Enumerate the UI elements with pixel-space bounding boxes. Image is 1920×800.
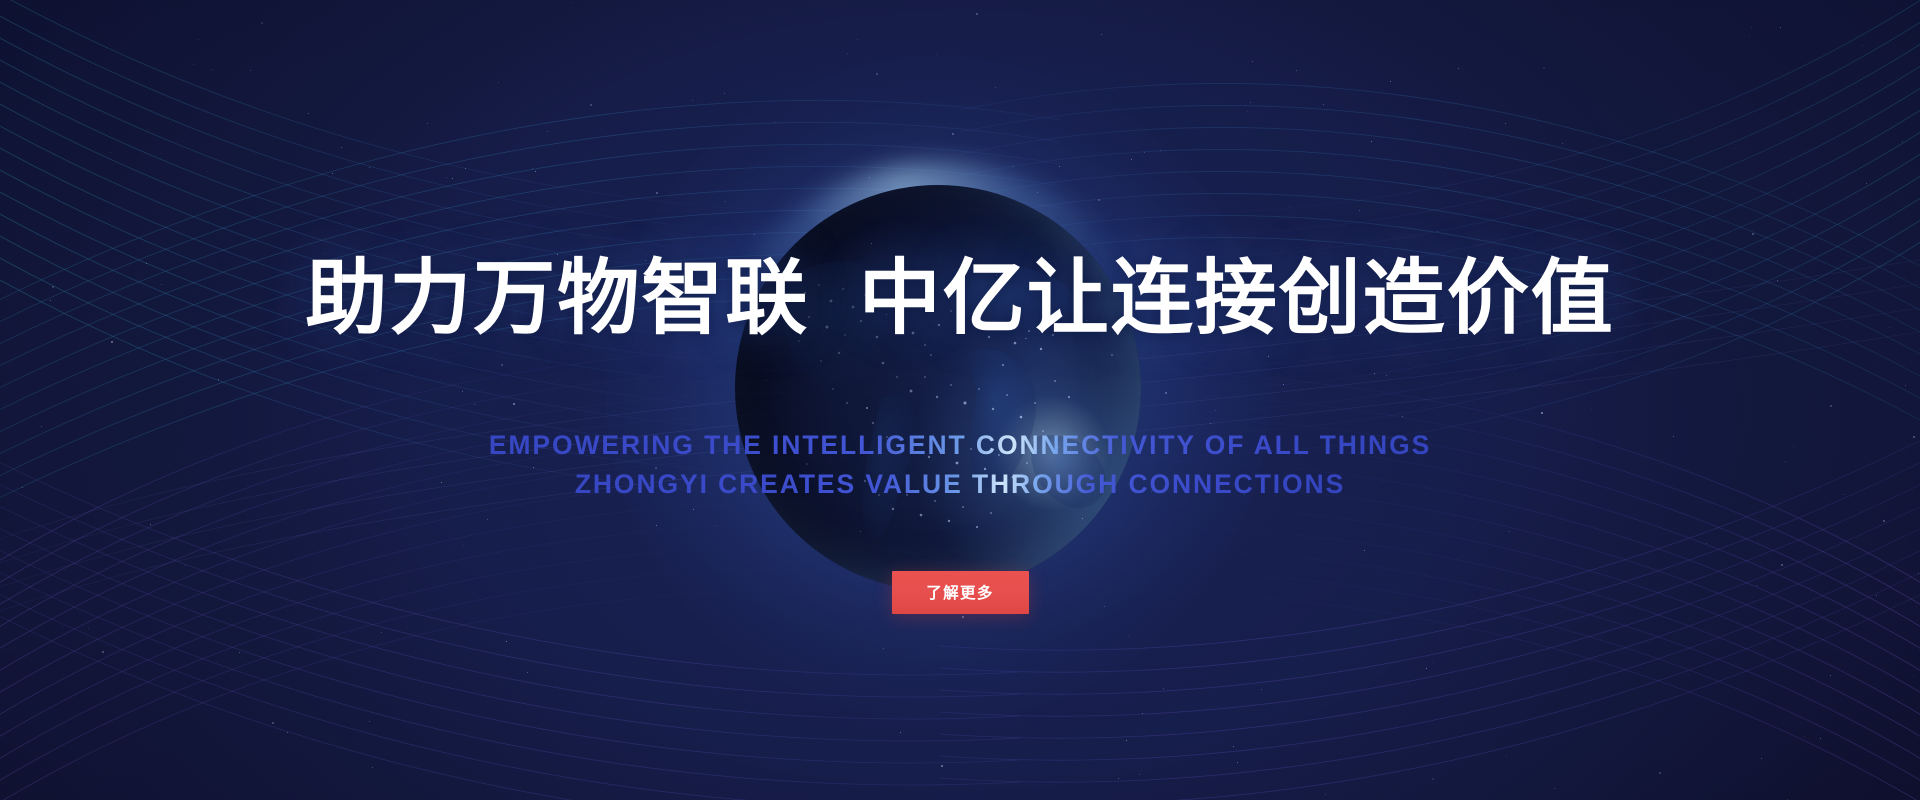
page-title: 助力万物智联 中亿让连接创造价值 [305, 258, 1615, 340]
subtitle-line-2: ZHONGYI CREATES VALUE THROUGH CONNECTION… [575, 468, 1345, 501]
banner-content: 助力万物智联 中亿让连接创造价值 EMPOWERING THE INTELLIG… [0, 0, 1920, 800]
learn-more-button[interactable]: 了解更多 [892, 571, 1029, 614]
subtitle-line-1: EMPOWERING THE INTELLIGENT CONNECTIVITY … [489, 429, 1431, 462]
hero-banner: 助力万物智联 中亿让连接创造价值 EMPOWERING THE INTELLIG… [0, 0, 1920, 800]
